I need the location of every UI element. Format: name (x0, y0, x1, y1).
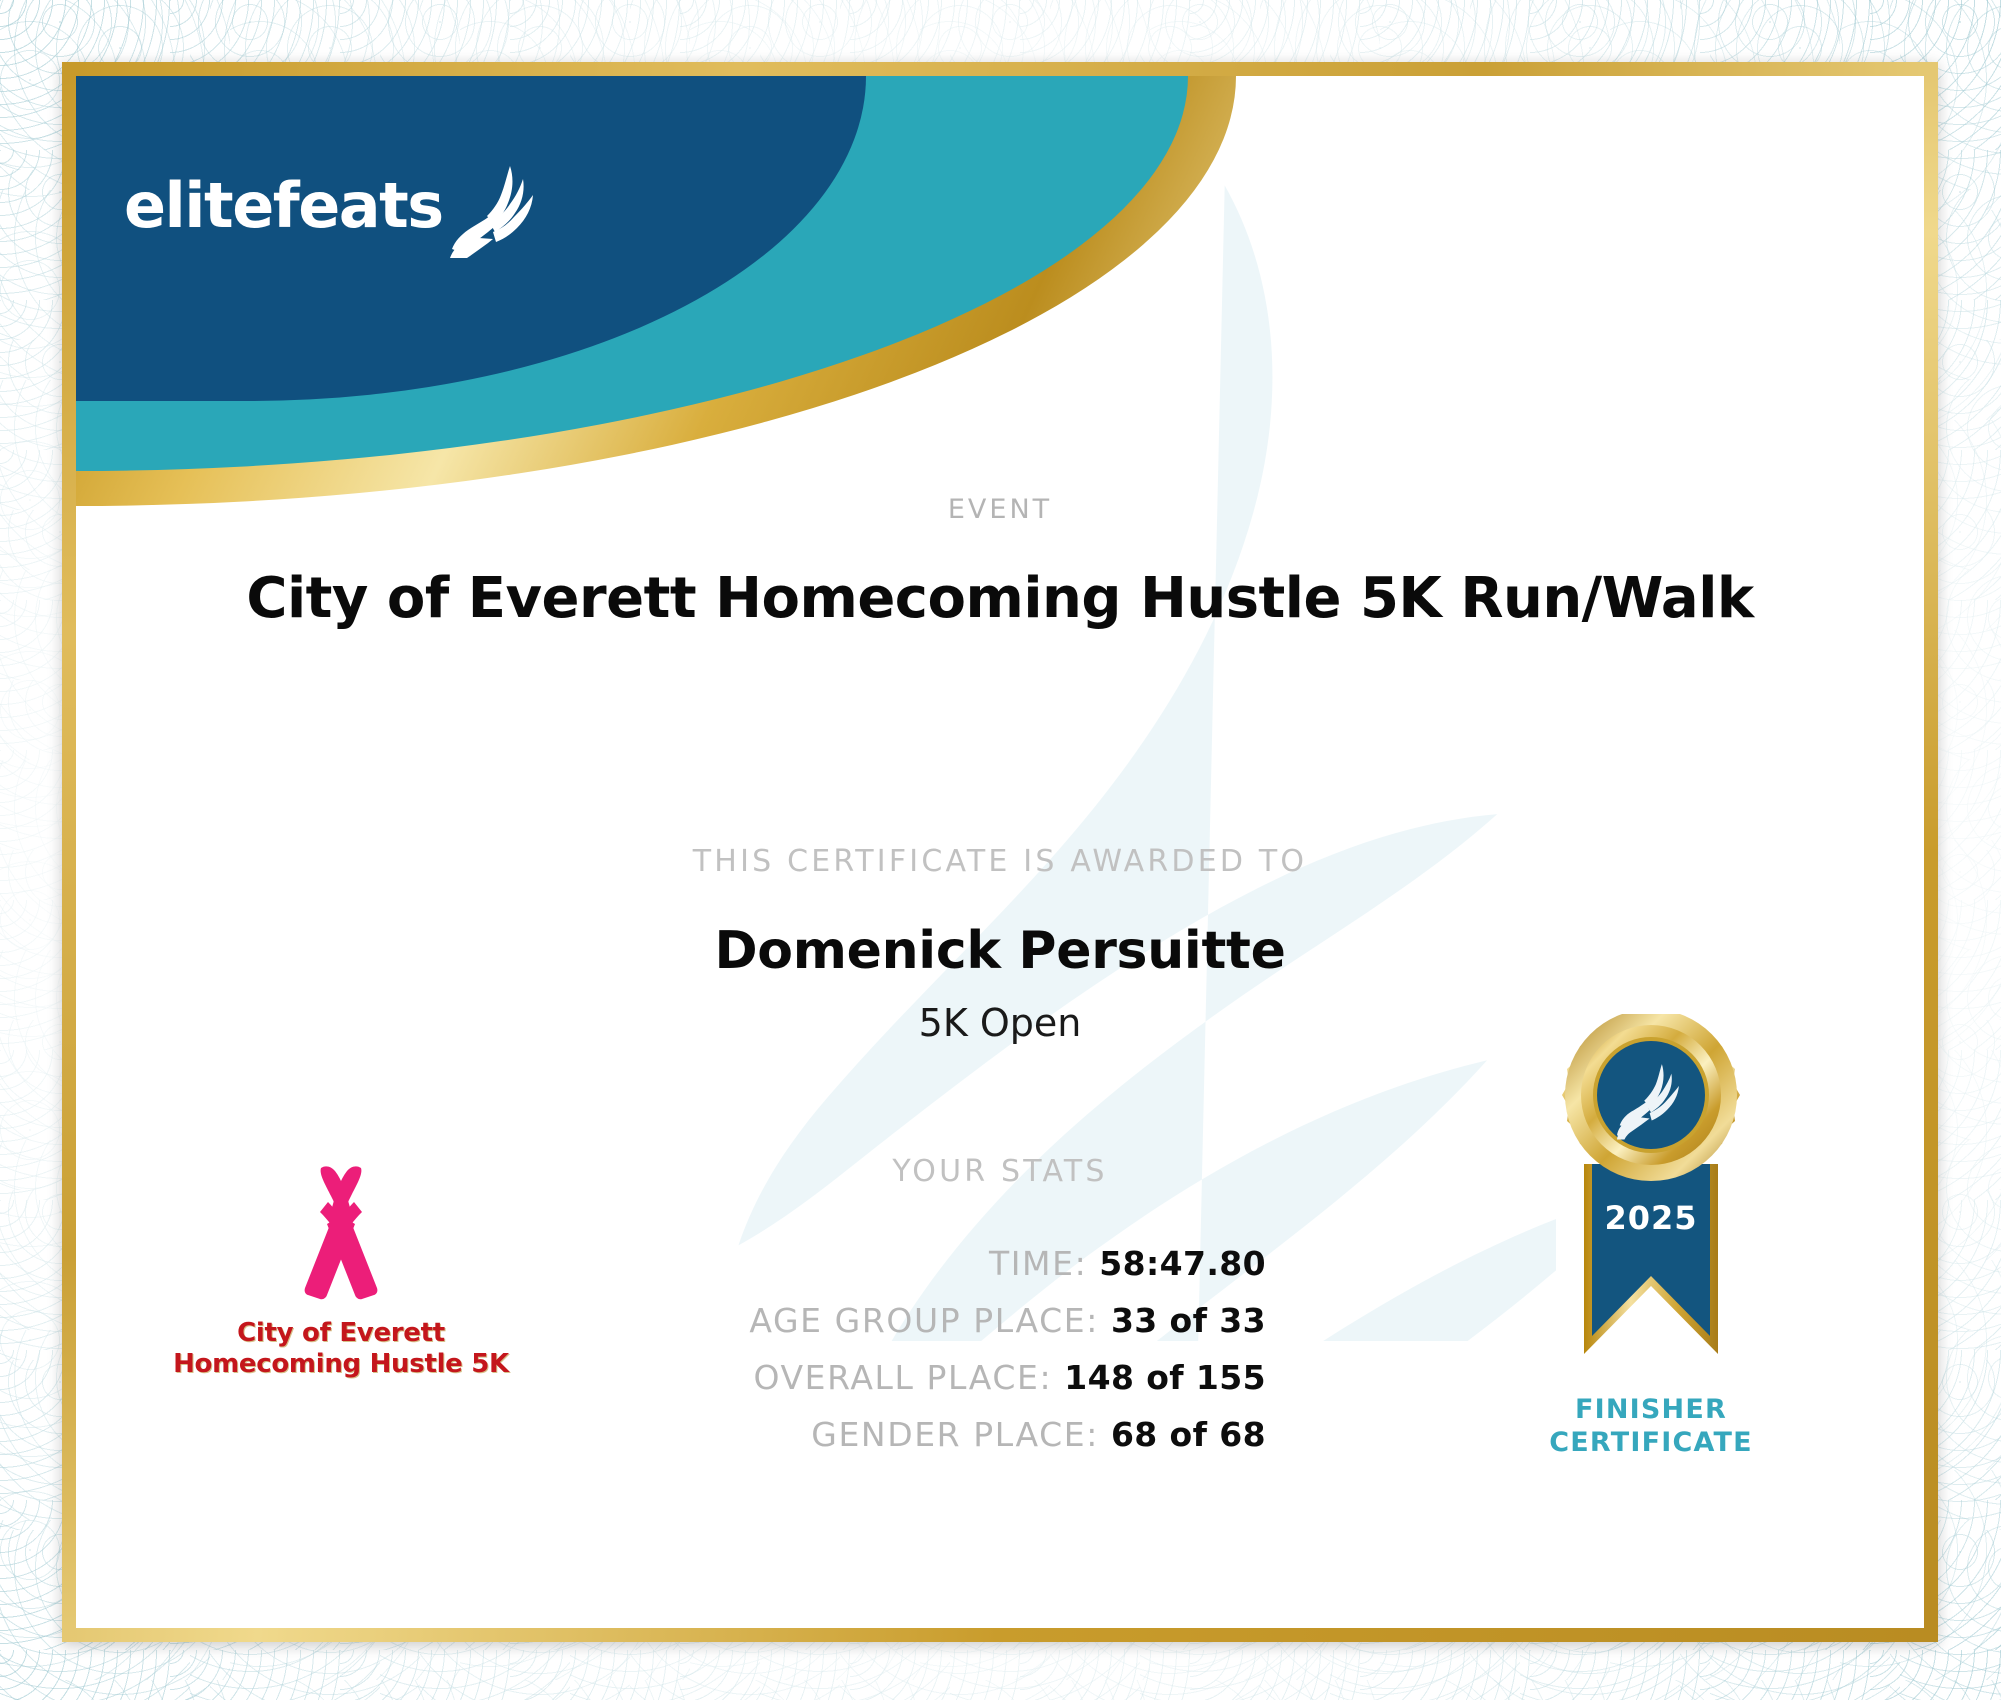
stat-value: 68 of 68 (1111, 1415, 1266, 1454)
finisher-seal: 2025 (1486, 1014, 1816, 1460)
charity-logo-line1: City of Everett (171, 1318, 511, 1349)
brand-wordmark: elitefeats (124, 175, 443, 237)
stat-label: GENDER PLACE: (811, 1415, 1099, 1454)
seal-caption-line2: CERTIFICATE (1486, 1427, 1816, 1460)
stat-label: OVERALL PLACE: (754, 1358, 1053, 1397)
charity-logo-line2: Homecoming Hustle 5K (171, 1349, 511, 1380)
stat-row-gender-place: GENDER PLACE: 68 of 68 (76, 1415, 1266, 1454)
seal-caption-line1: FINISHER (1486, 1394, 1816, 1427)
awarded-to-label: THIS CERTIFICATE IS AWARDED TO (76, 844, 1924, 879)
recipient-name: Domenick Persuitte (76, 921, 1924, 981)
stat-value: 33 of 33 (1111, 1301, 1266, 1340)
certificate-card: elitefeats EVENT City of Everett Homecom… (62, 62, 1938, 1642)
seal-year: 2025 (1604, 1199, 1697, 1237)
seal-caption: FINISHER CERTIFICATE (1486, 1394, 1816, 1460)
stat-value: 148 of 155 (1064, 1358, 1266, 1397)
charity-event-logo: City of Everett Homecoming Hustle 5K (171, 1166, 511, 1379)
winged-foot-icon (449, 162, 535, 258)
event-label: EVENT (76, 494, 1924, 525)
pink-awareness-ribbon-icon (281, 1166, 401, 1306)
certificate-content: EVENT City of Everett Homecoming Hustle … (76, 76, 1924, 1628)
event-title: City of Everett Homecoming Hustle 5K Run… (76, 566, 1924, 631)
certificate-card-inner: elitefeats EVENT City of Everett Homecom… (76, 76, 1924, 1628)
winged-foot-medal-icon: 2025 (1526, 1014, 1776, 1384)
brand-logo: elitefeats (124, 154, 535, 258)
stat-label: TIME: (989, 1244, 1087, 1283)
stat-label: AGE GROUP PLACE: (749, 1301, 1099, 1340)
stat-value: 58:47.80 (1099, 1244, 1266, 1283)
certificate-page: elitefeats EVENT City of Everett Homecom… (0, 0, 2001, 1700)
